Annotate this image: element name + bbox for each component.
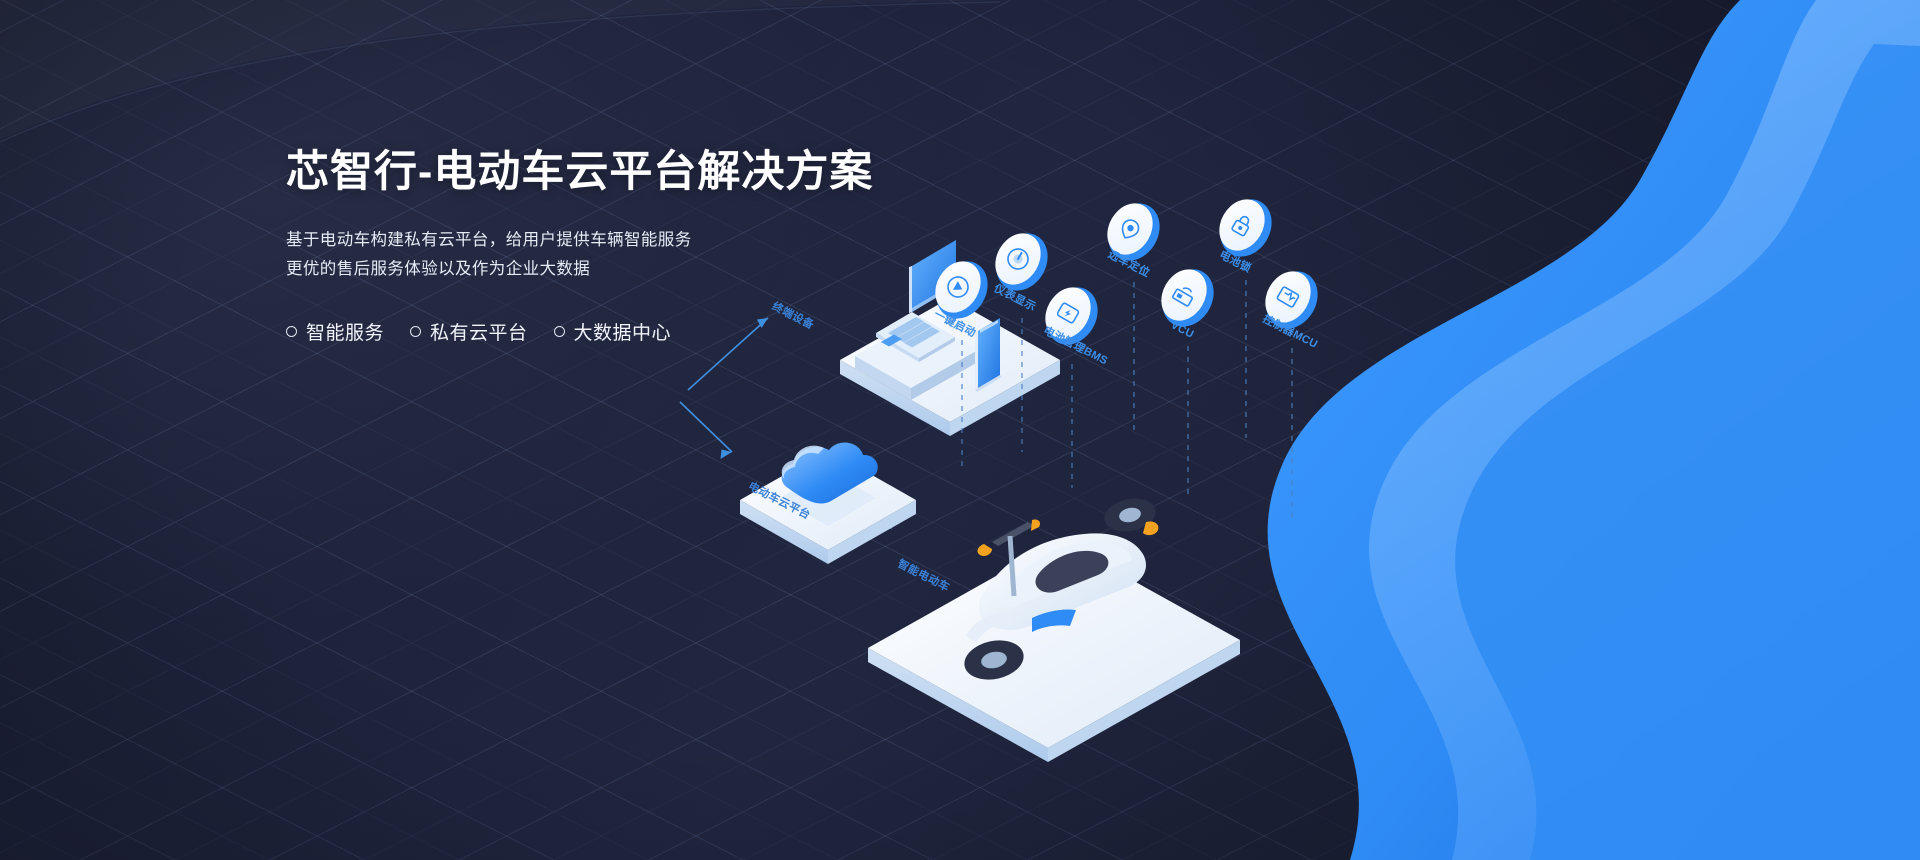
feature-tag-2: 大数据中心 [554, 318, 672, 345]
ring-bullet-icon [286, 326, 297, 337]
hero-banner: 芯智行-电动车云平台解决方案 基于电动车构建私有云平台，给用户提供车辆智能服务 … [0, 0, 1920, 860]
feature-tag-label: 私有云平台 [430, 318, 528, 345]
hero-subtitle-line-1: 基于电动车构建私有云平台，给用户提供车辆智能服务 [286, 226, 986, 254]
hero-text-block: 芯智行-电动车云平台解决方案 基于电动车构建私有云平台，给用户提供车辆智能服务 … [286, 148, 986, 345]
page-title: 芯智行-电动车云平台解决方案 [286, 148, 986, 196]
feature-tag-label: 大数据中心 [574, 318, 672, 345]
feature-tag-label: 智能服务 [306, 318, 384, 345]
feature-coin-4 [1152, 260, 1224, 336]
feature-tag-0: 智能服务 [286, 318, 384, 345]
feature-tag-list: 智能服务 私有云平台 大数据中心 [286, 318, 986, 345]
feature-tag-1: 私有云平台 [410, 318, 528, 345]
hero-subtitle: 基于电动车构建私有云平台，给用户提供车辆智能服务 更优的售后服务体验以及作为企业… [286, 226, 986, 283]
hero-subtitle-line-2: 更优的售后服务体验以及作为企业大数据 [286, 255, 986, 283]
ring-bullet-icon [554, 326, 565, 337]
ring-bullet-icon [410, 326, 421, 337]
